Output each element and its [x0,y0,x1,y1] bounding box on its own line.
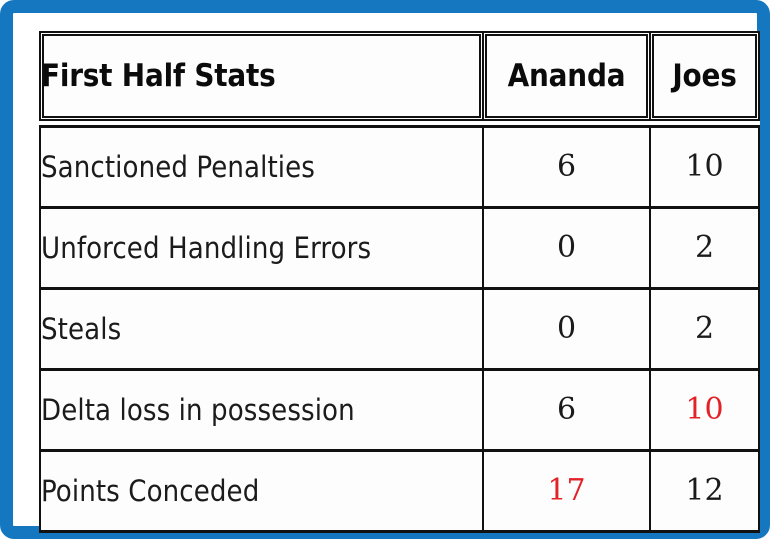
blue-border-frame: First Half Stats Ananda Joes Sanctioned … [0,0,770,539]
stat-value-ananda: 0 [483,288,650,369]
table-row: Points Conceded 17 12 [40,450,759,531]
stat-value-ananda: 0 [483,207,650,288]
stat-label: Unforced Handling Errors [40,207,483,288]
stat-label: Sanctioned Penalties [40,126,483,207]
stat-value-joes: 10 [650,369,759,450]
table-row: Sanctioned Penalties 6 10 [40,126,759,207]
table-header: First Half Stats Ananda Joes [40,32,759,126]
stat-value-joes: 2 [650,207,759,288]
stat-value-joes: 10 [650,126,759,207]
table-header-row: First Half Stats Ananda Joes [40,32,759,120]
table-row: Delta loss in possession 6 10 [40,369,759,450]
first-half-stats-table: First Half Stats Ananda Joes Sanctioned … [39,31,760,533]
stat-value-ananda: 17 [483,450,650,531]
stat-value-ananda: 6 [483,126,650,207]
stat-value-ananda: 6 [483,369,650,450]
stat-label: Points Conceded [40,450,483,531]
header-cell-joes: Joes [650,32,759,120]
stats-table-container: First Half Stats Ananda Joes Sanctioned … [39,31,758,533]
header-cell-ananda: Ananda [483,32,650,120]
table-body: Sanctioned Penalties 6 10 Unforced Handl… [40,126,759,532]
stat-label: Delta loss in possession [40,369,483,450]
stat-label: Steals [40,288,483,369]
header-cell-title: First Half Stats [40,32,483,120]
stat-value-joes: 12 [650,450,759,531]
table-row: Unforced Handling Errors 0 2 [40,207,759,288]
table-row: Steals 0 2 [40,288,759,369]
stat-value-joes: 2 [650,288,759,369]
